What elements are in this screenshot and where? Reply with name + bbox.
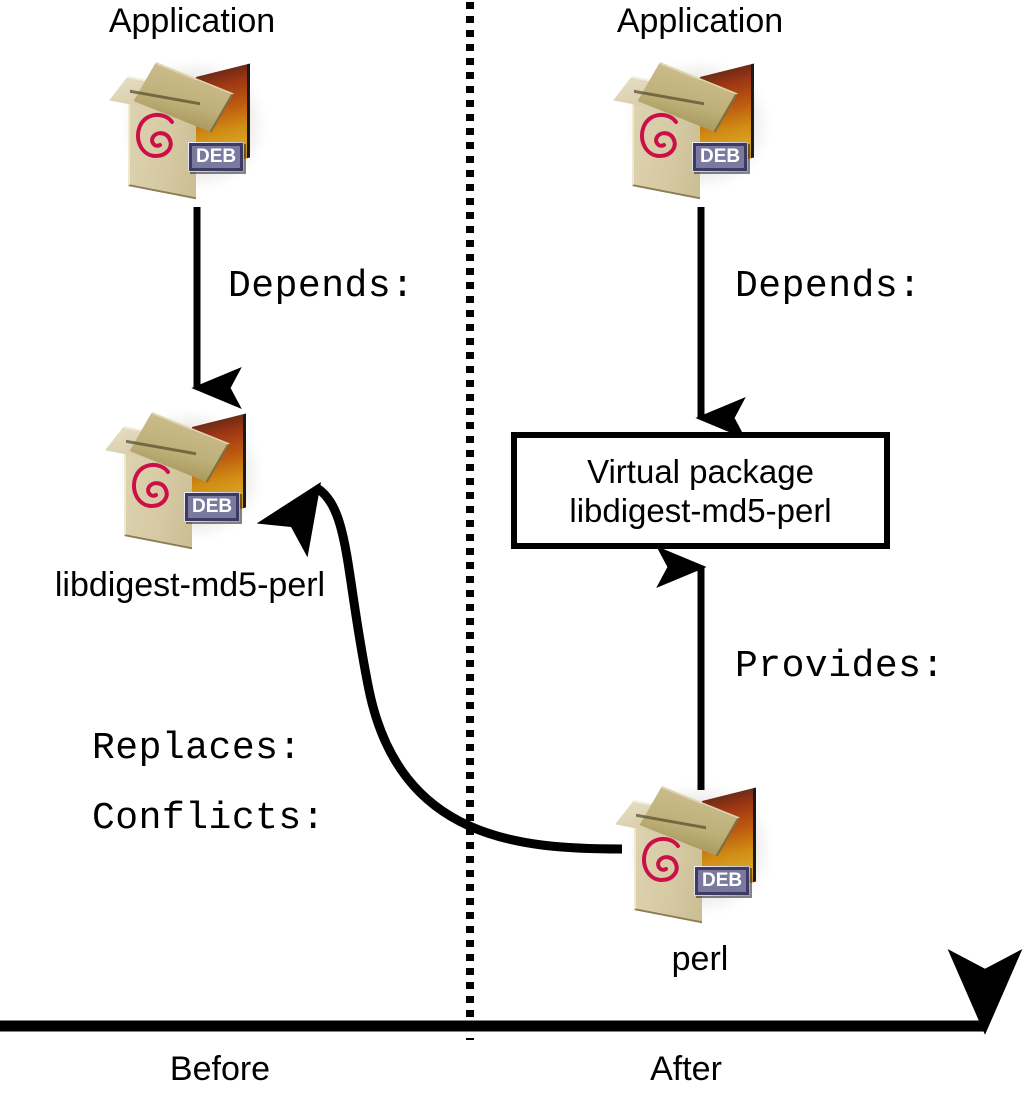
package-label-libdigest-md5-perl: libdigest-md5-perl <box>55 568 325 602</box>
deb-badge: DEB <box>694 866 750 896</box>
deb-package-icon-application-before: DEB <box>118 56 274 196</box>
provides-label: Provides: <box>735 648 945 686</box>
depends-label-before: Depends: <box>228 268 414 306</box>
depends-label-after: Depends: <box>735 268 921 306</box>
debian-swirl-icon <box>636 110 686 166</box>
deb-badge: DEB <box>188 142 244 172</box>
virtual-package-line2: libdigest-md5-perl <box>569 491 831 530</box>
box-top-flaps <box>126 62 250 114</box>
virtual-package-box: Virtual package libdigest-md5-perl <box>511 432 890 549</box>
timeline-label-after: After <box>650 1052 722 1086</box>
deb-package-icon-perl: DEB <box>624 780 780 920</box>
package-label-perl: perl <box>672 942 729 976</box>
box-top-flaps <box>122 412 246 464</box>
deb-package-icon-application-after: DEB <box>622 56 778 196</box>
debian-virtual-package-diagram: Application Application Depends: Depends… <box>0 0 1024 1094</box>
debian-swirl-icon <box>638 834 688 890</box>
timeline-label-before: Before <box>170 1052 270 1086</box>
virtual-package-line1: Virtual package <box>587 452 814 491</box>
debian-swirl-icon <box>132 110 182 166</box>
deb-badge-text: DEB <box>693 143 747 171</box>
page-title-right: Application <box>617 4 783 38</box>
conflicts-label: Conflicts: <box>92 800 325 838</box>
box-top-flaps <box>630 62 754 114</box>
deb-badge: DEB <box>184 492 240 522</box>
page-title-left: Application <box>109 4 275 38</box>
deb-package-icon-libdigest-md5-perl: DEB <box>114 406 270 546</box>
box-top-flaps <box>632 786 756 838</box>
replaces-label: Replaces: <box>92 730 302 768</box>
deb-badge: DEB <box>692 142 748 172</box>
deb-badge-text: DEB <box>189 143 243 171</box>
deb-badge-text: DEB <box>695 867 749 895</box>
deb-badge-text: DEB <box>185 493 239 521</box>
debian-swirl-icon <box>128 460 178 516</box>
